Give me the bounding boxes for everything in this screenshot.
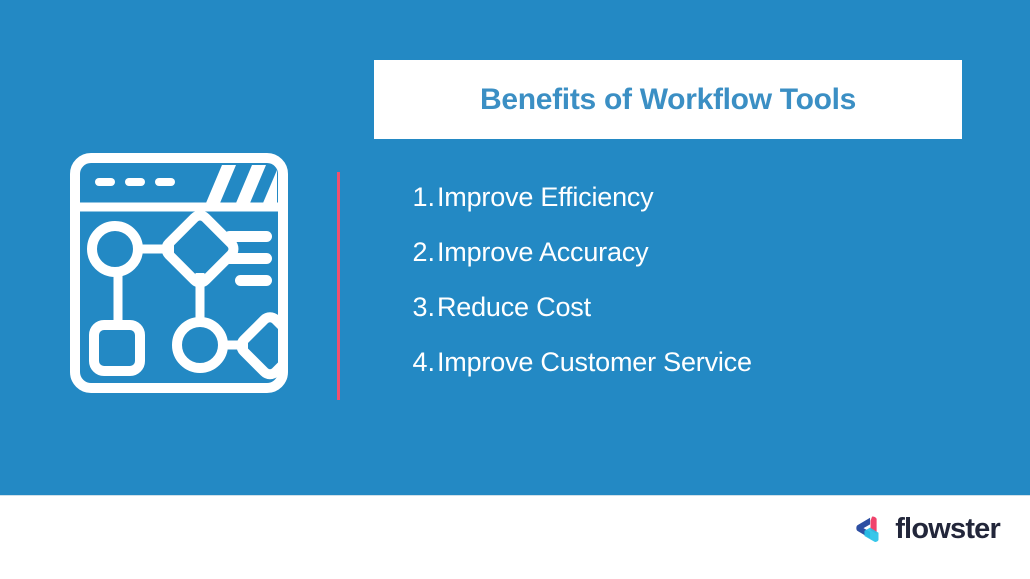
workflow-diagram-icon	[70, 153, 288, 393]
list-item-label: Reduce Cost	[435, 292, 591, 323]
titlebar-dot-3	[155, 178, 175, 186]
benefits-list: 1. Improve Efficiency 2. Improve Accurac…	[390, 182, 950, 402]
list-item-label: Improve Efficiency	[435, 182, 654, 213]
footer-bar: flowster	[0, 495, 1030, 579]
slide-canvas: Benefits of Workflow Tools	[0, 0, 1030, 579]
flowster-logo-mark-icon	[856, 514, 886, 544]
list-item: 2. Improve Accuracy	[390, 237, 950, 292]
list-item-number: 4.	[390, 347, 435, 378]
flowster-logo[interactable]: flowster	[856, 514, 1000, 544]
content-bar-2	[224, 253, 272, 264]
flowchart-node-circle-top	[92, 226, 138, 272]
titlebar-dot-1	[95, 178, 115, 186]
flowchart-node-circle-bottom	[177, 322, 223, 368]
list-item-number: 1.	[390, 182, 435, 213]
list-item-label: Improve Accuracy	[435, 237, 648, 268]
list-item-number: 3.	[390, 292, 435, 323]
page-title: Benefits of Workflow Tools	[480, 83, 856, 117]
content-bar-1	[224, 231, 272, 242]
vertical-accent-divider	[337, 172, 340, 400]
titlebar-stripes	[206, 165, 277, 203]
list-item-label: Improve Customer Service	[435, 347, 752, 378]
title-card: Benefits of Workflow Tools	[374, 60, 962, 139]
list-item: 4. Improve Customer Service	[390, 347, 950, 402]
workflow-diagram-icon-svg	[70, 153, 288, 393]
titlebar-dot-2	[125, 178, 145, 186]
list-item-number: 2.	[390, 237, 435, 268]
flowchart-node-square	[94, 325, 140, 371]
list-item: 1. Improve Efficiency	[390, 182, 950, 237]
flowster-logo-text: flowster	[895, 515, 1000, 544]
list-item: 3. Reduce Cost	[390, 292, 950, 347]
content-bar-3	[235, 275, 272, 286]
